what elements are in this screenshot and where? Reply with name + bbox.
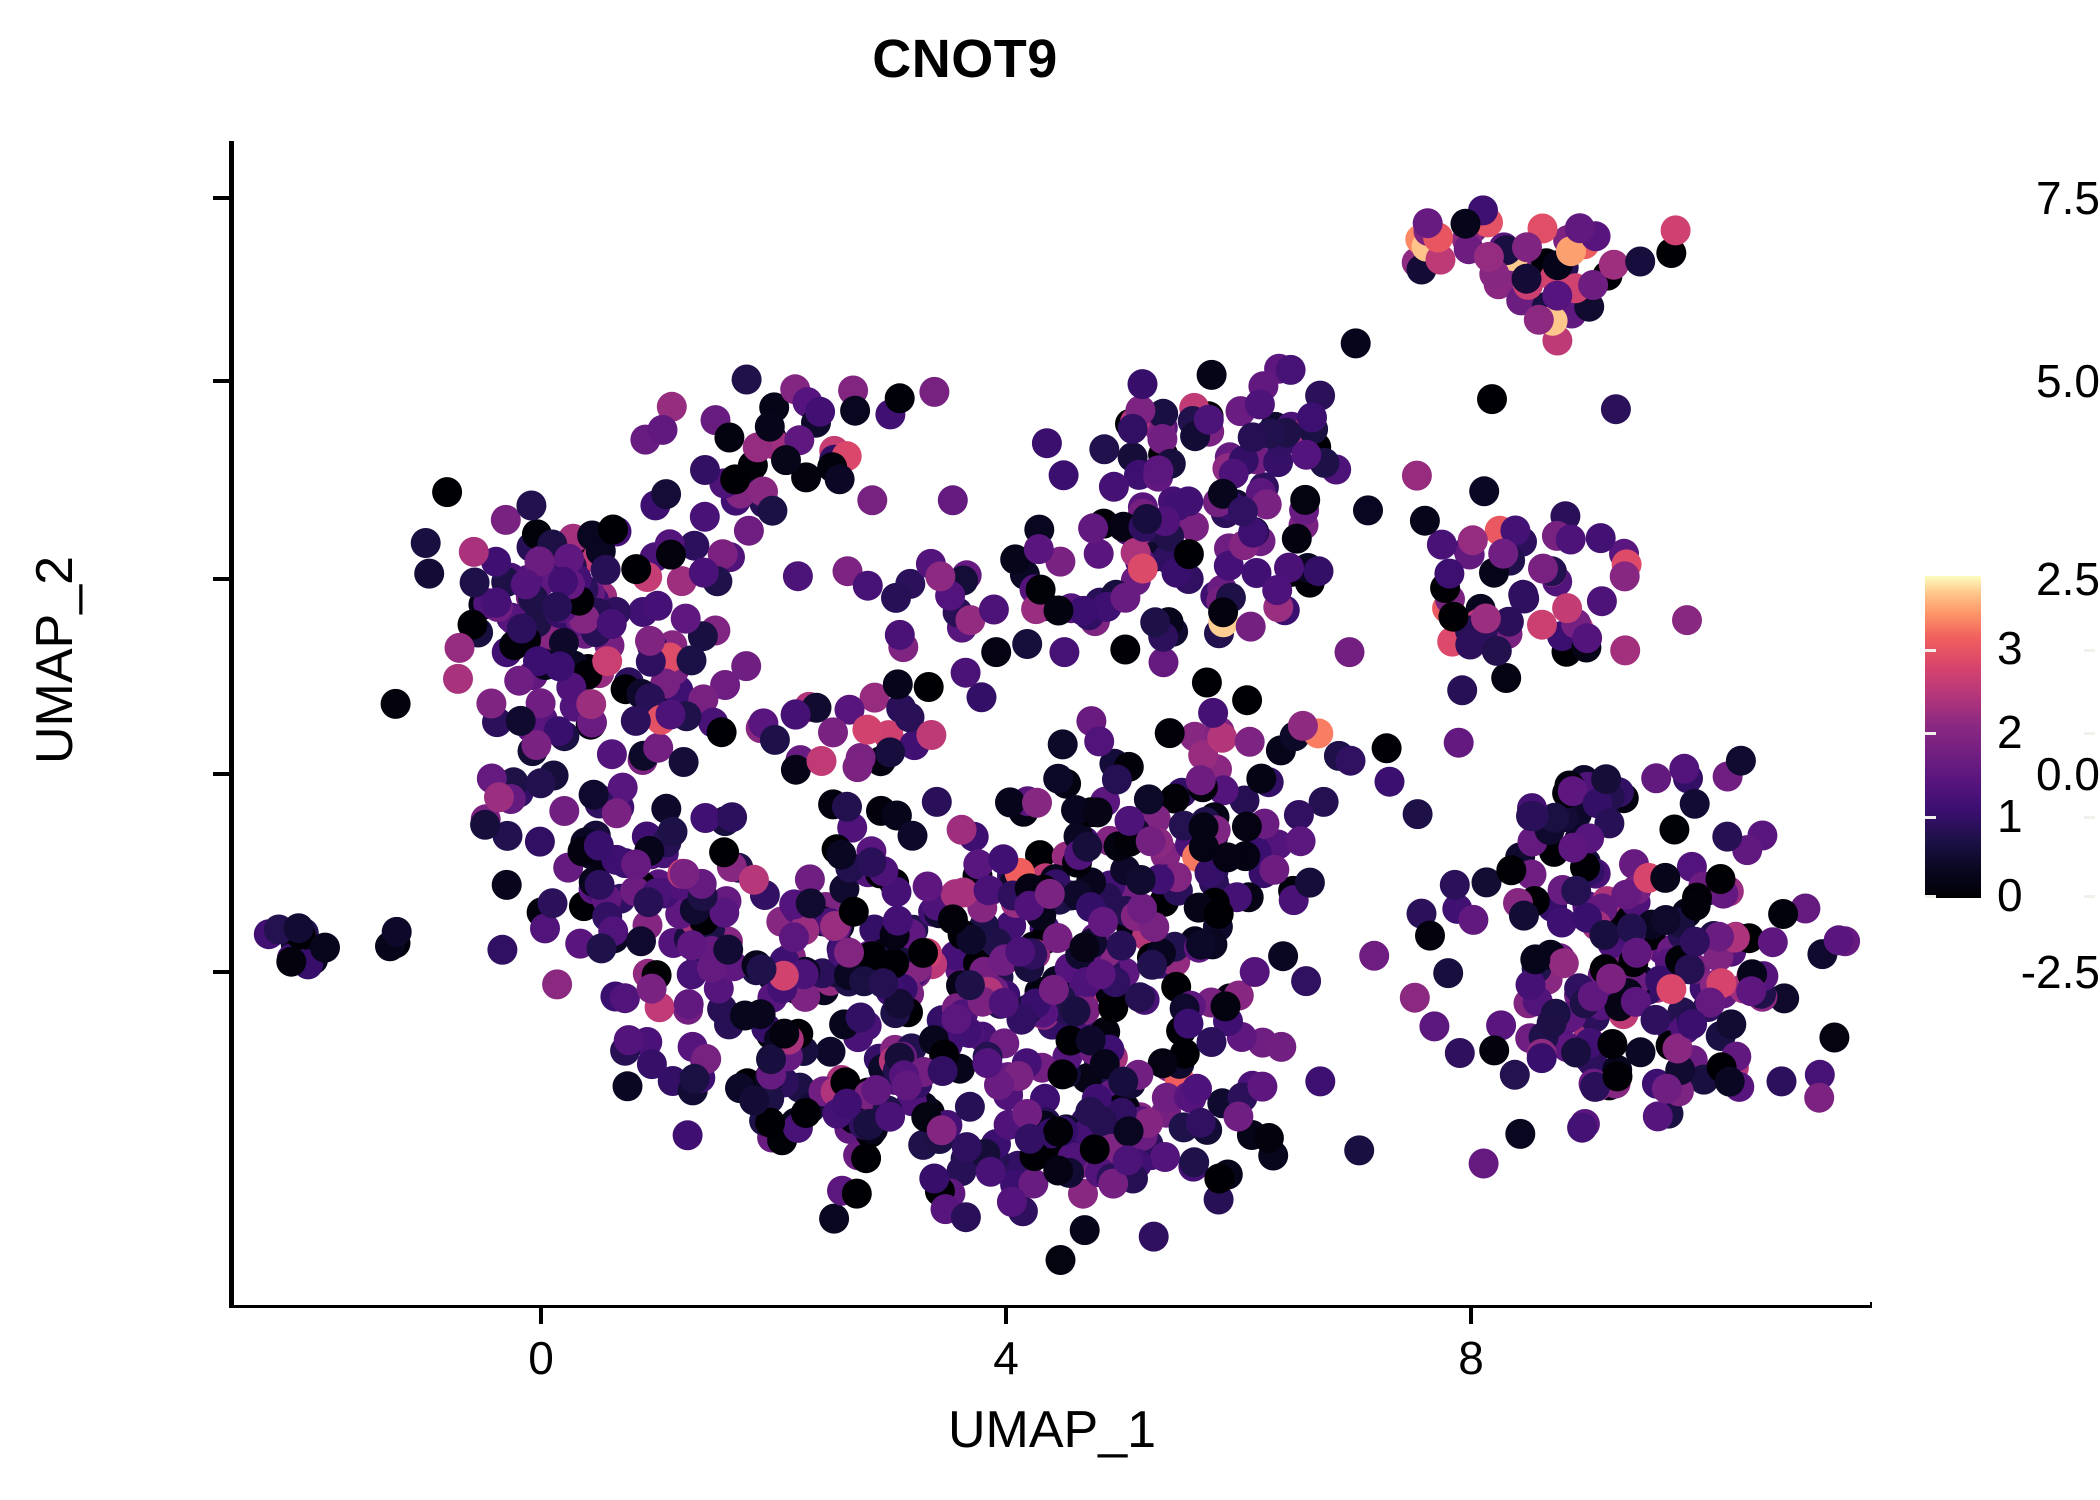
scatter-point — [1089, 434, 1119, 464]
scatter-point — [481, 588, 511, 618]
scatter-point — [1433, 958, 1463, 988]
scatter-point — [1305, 1066, 1335, 1096]
scatter-point — [1677, 1009, 1707, 1039]
scatter-point — [1482, 636, 1512, 666]
scatter-point — [492, 870, 522, 900]
scatter-point — [908, 938, 938, 968]
scatter-point — [1084, 539, 1114, 569]
scatter-point — [690, 455, 720, 485]
scatter-point — [621, 706, 651, 736]
scatter-point — [1336, 746, 1366, 776]
colorbar-label-2: 2 — [1997, 709, 2077, 755]
scatter-point — [1716, 1009, 1746, 1039]
scatter-point — [1413, 208, 1443, 238]
scatter-point — [549, 796, 579, 826]
scatter-point — [883, 906, 913, 936]
scatter-point — [1143, 455, 1173, 485]
scatter-point — [1043, 1156, 1073, 1186]
scatter-point — [673, 1120, 703, 1150]
scatter-point — [1474, 242, 1504, 272]
scatter-point — [1266, 1032, 1296, 1062]
scatter-point — [1186, 765, 1216, 795]
scatter-point — [1140, 607, 1170, 637]
scatter-point — [1601, 394, 1631, 424]
scatter-point — [1192, 668, 1222, 698]
scatter-point — [1596, 964, 1626, 994]
scatter-point — [1282, 524, 1312, 554]
colorbar-label-0: 0 — [1997, 872, 2077, 918]
scatter-point — [941, 1004, 971, 1034]
scatter-point — [1228, 496, 1258, 526]
scatter-point — [1335, 637, 1365, 667]
scatter-point — [1597, 1029, 1627, 1059]
scatter-point — [674, 989, 704, 1019]
scatter-point — [989, 988, 1019, 1018]
scatter-point — [1458, 525, 1488, 555]
scatter-point — [938, 485, 968, 515]
scatter-point — [677, 645, 707, 675]
scatter-point — [919, 377, 949, 407]
scatter-point — [1804, 1083, 1834, 1113]
scatter-point — [1715, 1067, 1745, 1097]
scatter-point — [542, 969, 572, 999]
scatter-point — [1549, 948, 1579, 978]
scatter-point — [1451, 209, 1481, 239]
scatter-point — [614, 1025, 644, 1055]
scatter-point — [1015, 1124, 1045, 1154]
scatter-point — [1107, 931, 1137, 961]
scatter-point — [1005, 937, 1035, 967]
scatter-point — [414, 559, 444, 589]
scatter-point — [760, 725, 790, 755]
scatter-point — [1659, 815, 1689, 845]
scatter-point — [1136, 826, 1166, 856]
scatter-point — [411, 528, 441, 558]
x-tick-mark-0 — [539, 1308, 543, 1324]
scatter-point — [1712, 822, 1742, 852]
scatter-point — [1186, 930, 1216, 960]
scatter-point — [643, 733, 673, 763]
scatter-point — [1049, 460, 1079, 490]
scatter-point — [1173, 486, 1203, 516]
scatter-point — [972, 1048, 1002, 1078]
scatter-point — [955, 970, 985, 1000]
scatter-point — [1291, 440, 1321, 470]
scatter-point — [947, 815, 977, 845]
scatter-point — [1680, 789, 1710, 819]
scatter-point — [669, 747, 699, 777]
scatter-point — [807, 746, 837, 776]
scatter-point — [1246, 764, 1276, 794]
scatter-point — [1232, 685, 1262, 715]
colorbar-gradient — [1925, 576, 1981, 898]
scatter-point — [1198, 698, 1228, 728]
scatter-point — [1128, 369, 1158, 399]
scatter-point — [1035, 879, 1065, 909]
scatter-point — [690, 502, 720, 532]
scatter-point — [584, 831, 614, 861]
scatter-point — [1656, 974, 1686, 1004]
scatter-point — [1736, 976, 1766, 1006]
scatter-point — [1455, 630, 1485, 660]
scatter-point — [382, 917, 412, 947]
scatter-point — [1610, 635, 1640, 665]
scatter-point — [1080, 1134, 1110, 1164]
scatter-point — [1603, 1061, 1633, 1091]
scatter-point — [1126, 865, 1156, 895]
scatter-point — [805, 397, 835, 427]
scatter-point — [928, 1056, 958, 1086]
scatter-point — [898, 821, 928, 851]
scatter-point — [1591, 764, 1621, 794]
scatter-point — [819, 1204, 849, 1234]
scatter-point — [857, 485, 887, 515]
scatter-point — [914, 672, 944, 702]
scatter-point — [1643, 1101, 1673, 1131]
scatter-point — [542, 592, 572, 622]
scatter-point — [755, 412, 785, 442]
scatter-point — [1589, 920, 1619, 950]
scatter-point — [834, 938, 864, 968]
colorbar-tick-1-left — [1925, 816, 1936, 819]
scatter-point — [656, 540, 686, 570]
y-tick-label-4: -2.5 — [1910, 949, 2100, 995]
scatter-point — [591, 555, 621, 585]
scatter-point — [1444, 728, 1474, 758]
scatter-point — [713, 935, 743, 965]
scatter-point — [997, 1187, 1027, 1217]
scatter-point — [885, 620, 915, 650]
scatter-point — [506, 706, 536, 736]
scatter-point — [680, 1064, 710, 1094]
scatter-point — [432, 477, 462, 507]
scatter-point — [470, 810, 500, 840]
scatter-point — [1061, 996, 1091, 1026]
scatter-point — [598, 515, 628, 545]
scatter-point — [1447, 675, 1477, 705]
x-tick-label-1: 4 — [926, 1335, 1086, 1381]
scatter-point — [1491, 663, 1521, 693]
scatter-point — [526, 768, 556, 798]
scatter-point — [1197, 1027, 1227, 1057]
scatter-point — [525, 827, 555, 857]
scatter-point — [1108, 1067, 1138, 1097]
scatter-point — [1651, 905, 1681, 935]
scatter-point — [756, 1044, 786, 1074]
scatter-point — [1400, 983, 1430, 1013]
scatter-point — [1039, 975, 1069, 1005]
scatter-point — [976, 1157, 1006, 1187]
scatter-point — [875, 1102, 905, 1132]
scatter-point — [843, 752, 873, 782]
scatter-point — [1137, 950, 1167, 980]
scatter-point — [826, 840, 856, 870]
scatter-point — [842, 1179, 872, 1209]
scatter-point — [1155, 718, 1185, 748]
scatter-point — [1458, 905, 1488, 935]
scatter-point — [979, 595, 1009, 625]
y-tick-mark-2.5 — [213, 577, 229, 581]
scatter-point — [1669, 754, 1699, 784]
scatter-point — [856, 847, 886, 877]
scatter-point — [840, 396, 870, 426]
scatter-point — [1099, 472, 1129, 502]
scatter-point — [1768, 899, 1798, 929]
scatter-point — [637, 974, 667, 1004]
scatter-point — [1022, 788, 1052, 818]
scatter-point — [1212, 842, 1242, 872]
scatter-point — [1572, 623, 1602, 653]
scatter-point — [1268, 941, 1298, 971]
scatter-point — [1519, 801, 1549, 831]
scatter-point — [671, 604, 701, 634]
scatter-point — [1132, 504, 1162, 534]
scatter-point — [538, 888, 568, 918]
y-tick-mark-7.5 — [213, 196, 229, 200]
scatter-point — [981, 637, 1011, 667]
scatter-point — [1127, 893, 1157, 923]
scatter-point — [1194, 405, 1224, 435]
scatter-point — [1528, 554, 1558, 584]
scatter-point — [852, 715, 882, 745]
scatter-point — [1512, 232, 1542, 262]
colorbar-tick-2-right — [2084, 732, 2095, 735]
scatter-point — [1469, 1149, 1499, 1179]
scatter-point — [1291, 966, 1321, 996]
scatter-point — [1372, 733, 1402, 763]
x-tick-mark-4 — [1004, 1308, 1008, 1324]
scatter-point — [1353, 495, 1383, 525]
scatter-point — [1197, 360, 1227, 390]
scatter-point — [1070, 932, 1100, 962]
scatter-point — [941, 879, 971, 909]
scatter-point — [1625, 247, 1655, 277]
scatter-point — [592, 646, 622, 676]
scatter-point — [1516, 970, 1546, 1000]
scatter-point — [779, 922, 809, 952]
scatter-point — [1537, 1008, 1567, 1038]
scatter-point — [1182, 1074, 1212, 1104]
scatter-point — [1295, 868, 1325, 898]
scatter-point — [1819, 1023, 1849, 1053]
scatter-point — [597, 739, 627, 769]
scatter-point — [1128, 554, 1158, 584]
scatter-point — [1672, 605, 1702, 635]
scatter-point — [1680, 927, 1710, 957]
scatter-point — [1110, 583, 1140, 613]
scatter-point — [781, 755, 811, 785]
scatter-point — [757, 496, 787, 526]
scatter-point — [1114, 1116, 1144, 1146]
scatter-point — [1297, 403, 1327, 433]
scatter-point — [1652, 1074, 1682, 1104]
scatter-point — [1043, 764, 1073, 794]
scatter-point — [1254, 1123, 1284, 1153]
scatter-point — [1048, 729, 1078, 759]
colorbar-tick-1-right — [2084, 816, 2095, 819]
y-tick-label-0: 7.5 — [1910, 175, 2100, 221]
scatter-point — [587, 933, 617, 963]
scatter-point — [816, 1037, 846, 1067]
scatter-point — [1049, 637, 1079, 667]
scatter-point — [1496, 855, 1526, 885]
colorbar-tick-3-left — [1925, 649, 1936, 652]
scatter-point — [1586, 523, 1616, 553]
scatter-point — [913, 872, 943, 902]
scatter-point — [1048, 1059, 1078, 1089]
scatter-point — [445, 633, 475, 663]
scatter-point — [484, 782, 514, 812]
scatter-point — [1174, 539, 1204, 569]
scatter-point — [1276, 355, 1306, 385]
scatter-point — [1520, 944, 1550, 974]
scatter-point — [1150, 1142, 1180, 1172]
scatter-point — [1223, 1102, 1253, 1132]
scatter-point — [892, 1070, 922, 1100]
scatter-point — [853, 571, 883, 601]
scatter-point — [771, 445, 801, 475]
scatter-point — [1706, 864, 1736, 894]
scatter-point — [1344, 1135, 1374, 1165]
scatter-point — [1186, 1108, 1216, 1138]
scatter-point — [1641, 763, 1671, 793]
scatter-point — [995, 787, 1025, 817]
colorbar-label-3: 3 — [1997, 625, 2077, 671]
scatter-point — [1149, 647, 1179, 677]
scatter-point — [1402, 461, 1432, 491]
scatter-point — [832, 792, 862, 822]
scatter-point — [783, 561, 813, 591]
scatter-point — [1304, 556, 1334, 586]
y-tick-mark-5.0 — [213, 379, 229, 383]
scatter-point — [1204, 1164, 1234, 1194]
scatter-point — [717, 802, 747, 832]
scatter-point — [648, 415, 678, 445]
scatter-point — [1440, 870, 1470, 900]
plot-panel — [234, 141, 1870, 1305]
scatter-point — [585, 870, 615, 900]
scatter-point — [1542, 281, 1572, 311]
scatter-point — [1410, 506, 1440, 536]
colorbar-tick-3-right — [2084, 649, 2095, 652]
scatter-point — [621, 554, 651, 584]
scatter-point — [1024, 534, 1054, 564]
scatter-point — [1527, 1043, 1557, 1073]
scatter-point — [1512, 264, 1542, 294]
scatter-point — [1208, 597, 1238, 627]
scatter-point — [1046, 1245, 1076, 1275]
scatter-point — [476, 689, 506, 719]
scatter-point — [1824, 925, 1854, 955]
scatter-point — [643, 591, 673, 621]
scatter-point — [530, 913, 560, 943]
scatter-point — [548, 567, 578, 597]
scatter-point — [284, 913, 314, 943]
scatter-point — [1434, 559, 1464, 589]
scatter-points-layer — [234, 141, 1870, 1305]
scatter-point — [851, 1143, 881, 1173]
scatter-point — [1078, 513, 1108, 543]
scatter-point — [731, 651, 761, 681]
scatter-point — [791, 1098, 821, 1128]
scatter-point — [310, 933, 340, 963]
scatter-point — [651, 479, 681, 509]
scatter-point — [1240, 957, 1270, 987]
scatter-point — [1767, 1066, 1797, 1096]
scatter-point — [634, 887, 664, 917]
scatter-point — [626, 926, 656, 956]
scatter-point — [1204, 899, 1234, 929]
scatter-point — [610, 983, 640, 1013]
scatter-point — [955, 1092, 985, 1122]
scatter-point — [1072, 832, 1102, 862]
scatter-point — [1070, 1215, 1100, 1245]
scatter-point — [576, 689, 606, 719]
scatter-point — [1488, 539, 1518, 569]
scatter-point — [707, 717, 737, 747]
scatter-point — [861, 1075, 891, 1105]
scatter-point — [781, 700, 811, 730]
scatter-point — [1288, 711, 1318, 741]
scatter-point — [637, 1049, 667, 1079]
scatter-point — [1189, 812, 1219, 842]
scatter-point — [938, 904, 968, 934]
scatter-point — [1359, 941, 1389, 971]
scatter-point — [919, 1164, 949, 1194]
colorbar-legend: 3 2 1 0 — [1925, 576, 2095, 906]
scatter-point — [739, 1086, 769, 1116]
scatter-point — [720, 464, 750, 494]
y-tick-label-1: 5.0 — [1910, 358, 2100, 404]
scatter-point — [511, 569, 541, 599]
scatter-point — [951, 1202, 981, 1232]
scatter-point — [1043, 923, 1073, 953]
scatter-point — [1610, 561, 1640, 591]
scatter-point — [1375, 767, 1405, 797]
scatter-point — [1043, 1117, 1073, 1147]
scatter-point — [1262, 575, 1292, 605]
scatter-point — [739, 865, 769, 895]
scatter-point — [832, 1089, 862, 1119]
x-tick-label-0: 0 — [461, 1335, 621, 1381]
scatter-point — [732, 365, 762, 395]
scatter-point — [1245, 389, 1275, 419]
scatter-point — [967, 682, 997, 712]
scatter-point — [507, 614, 537, 644]
scatter-point — [1505, 1119, 1535, 1149]
scatter-point — [885, 383, 915, 413]
scatter-point — [1471, 604, 1501, 634]
figure-root: CNOT9 7.5 5.0 2.5 0.0 -2.5 0 4 8 UMAP_2 … — [0, 0, 2100, 1500]
scatter-point — [381, 689, 411, 719]
colorbar-tick-0-left — [1925, 895, 1936, 898]
scatter-point — [1477, 384, 1507, 414]
scatter-point — [1622, 938, 1652, 968]
scatter-point — [1650, 863, 1680, 893]
scatter-point — [730, 1001, 760, 1031]
scatter-point — [1527, 610, 1557, 640]
scatter-point — [443, 664, 473, 694]
colorbar-tick-2-left — [1925, 732, 1936, 735]
scatter-point — [1113, 1145, 1143, 1175]
scatter-point — [1139, 1222, 1169, 1252]
scatter-point — [922, 787, 952, 817]
scatter-point — [504, 666, 534, 696]
scatter-point — [459, 537, 489, 567]
scatter-point — [714, 423, 744, 453]
scatter-point — [839, 897, 869, 927]
scatter-point — [825, 464, 855, 494]
